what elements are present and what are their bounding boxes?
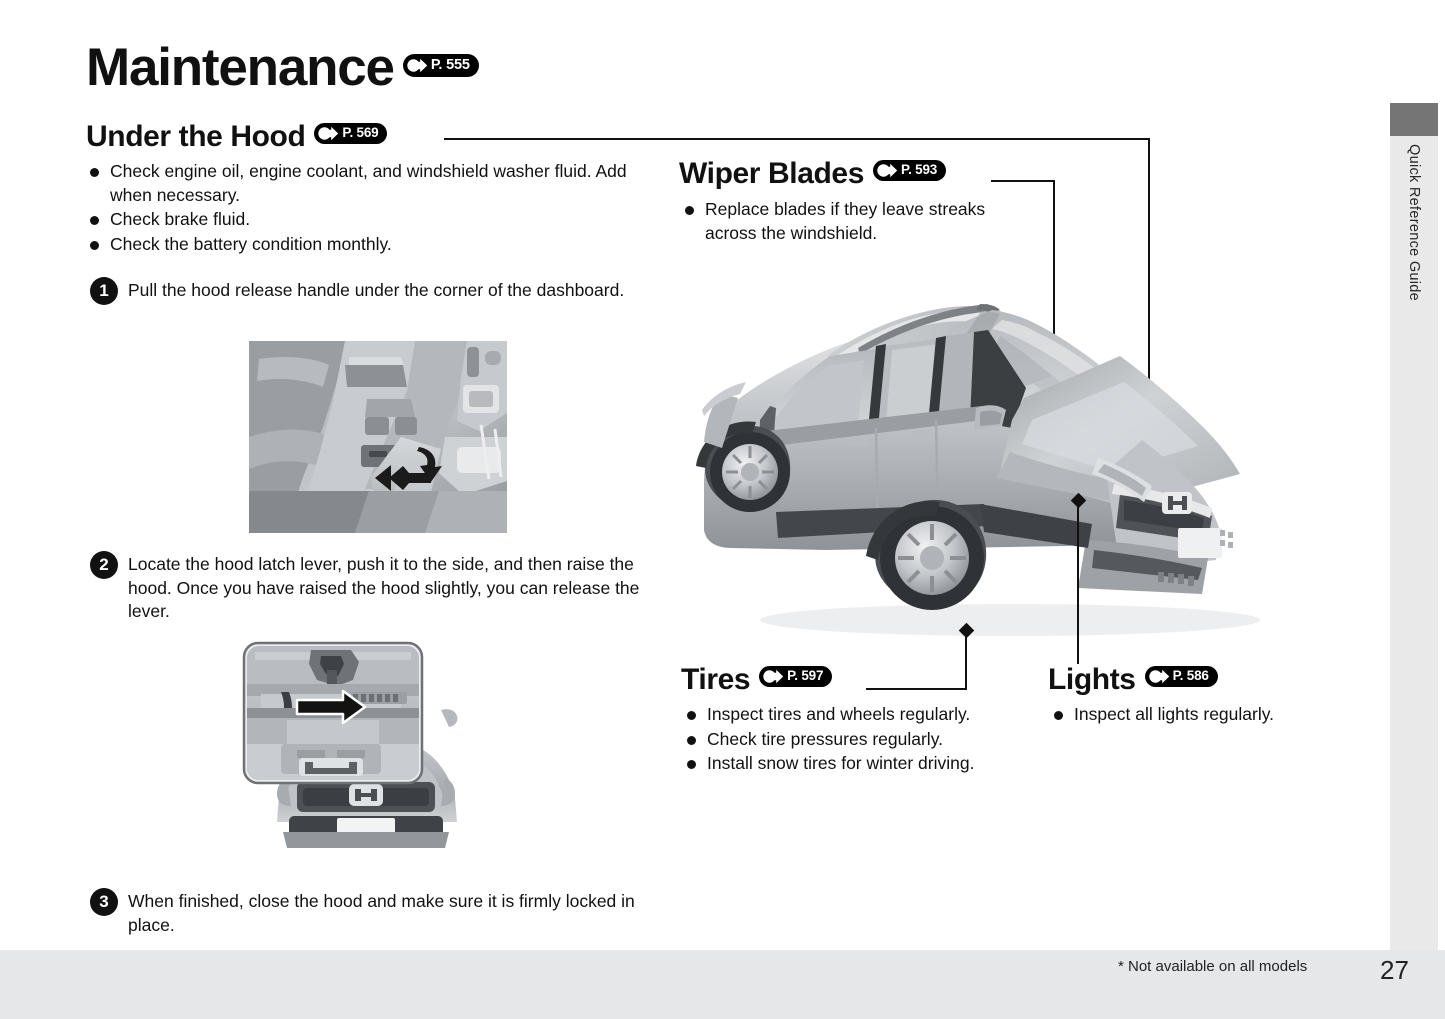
step-text: Locate the hood latch lever, push it to … xyxy=(128,551,680,624)
page-ref-badge-tires[interactable]: P. 597 xyxy=(759,666,832,687)
step-number: 1 xyxy=(90,277,118,305)
page-ref-text: P. 569 xyxy=(342,126,378,140)
step-text: Pull the hood release handle under the c… xyxy=(128,277,624,303)
under-the-hood-bullets: Check engine oil, engine coolant, and wi… xyxy=(88,160,648,257)
arrow-icon xyxy=(763,669,785,684)
side-tab-marker xyxy=(1390,103,1438,136)
bullet-item: Check brake fluid. xyxy=(88,208,648,232)
tires-title: Tires xyxy=(681,663,750,696)
bullet-item: Replace blades if they leave streaks acr… xyxy=(683,198,1033,245)
section-heading-lights: LightsP. 586 xyxy=(1048,665,1218,695)
page-ref-text: P. 597 xyxy=(787,669,823,683)
leader-line-tires-horizontal xyxy=(866,688,967,690)
bullet-item: Check the battery condition monthly. xyxy=(88,233,648,257)
page-ref-badge-lights[interactable]: P. 586 xyxy=(1145,666,1218,687)
figure-vehicle xyxy=(680,250,1300,660)
page-ref-text: P. 586 xyxy=(1173,669,1209,683)
wiper-blades-title: Wiper Blades xyxy=(679,157,864,190)
page-title: MaintenanceP. 555 xyxy=(86,41,479,94)
step-2: 2 Locate the hood latch lever, push it t… xyxy=(90,551,680,624)
page-ref-badge-wiper-blades[interactable]: P. 593 xyxy=(873,160,946,181)
bullet-item: Check tire pressures regularly. xyxy=(685,728,1015,752)
side-tab-label: Quick Reference Guide xyxy=(1406,140,1422,301)
step-text: When finished, close the hood and make s… xyxy=(128,888,650,937)
leader-line-wiper-horizontal xyxy=(991,180,1055,182)
page-ref-text: P. 555 xyxy=(431,58,470,73)
step-3: 3 When finished, close the hood and make… xyxy=(90,888,650,937)
arrow-icon xyxy=(407,58,429,73)
step-number: 3 xyxy=(90,888,118,916)
section-heading-under-the-hood: Under the HoodP. 569 xyxy=(86,122,387,152)
arrow-icon xyxy=(877,163,899,178)
page-ref-badge-under-the-hood[interactable]: P. 569 xyxy=(314,123,387,144)
arrow-icon xyxy=(1149,669,1171,684)
figure-hood-latch xyxy=(241,636,491,876)
under-the-hood-title: Under the Hood xyxy=(86,120,305,153)
leader-line-hood-horizontal xyxy=(444,138,1150,140)
bullet-item: Check engine oil, engine coolant, and wi… xyxy=(88,160,648,207)
page-ref-badge-maintenance[interactable]: P. 555 xyxy=(403,54,479,77)
manual-page: Quick Reference Guide MaintenanceP. 555 … xyxy=(0,0,1445,1019)
footer-note: * Not available on all models xyxy=(1118,958,1307,975)
step-1: 1 Pull the hood release handle under the… xyxy=(90,277,650,305)
page-number: 27 xyxy=(1380,955,1409,986)
wiper-blades-bullets: Replace blades if they leave streaks acr… xyxy=(683,198,1033,246)
bullet-item: Inspect tires and wheels regularly. xyxy=(685,703,1015,727)
step-number: 2 xyxy=(90,551,118,579)
section-heading-wiper-blades: Wiper BladesP. 593 xyxy=(679,159,946,189)
arrow-icon xyxy=(318,126,340,141)
tires-bullets: Inspect tires and wheels regularly. Chec… xyxy=(685,703,1015,777)
page-title-text: Maintenance xyxy=(86,38,394,97)
leader-line-tires-vertical xyxy=(965,632,967,690)
lights-title: Lights xyxy=(1048,663,1136,696)
bullet-item: Install snow tires for winter driving. xyxy=(685,752,1015,776)
section-heading-tires: TiresP. 597 xyxy=(681,665,832,695)
figure-hood-release xyxy=(249,341,507,533)
side-tab-label-wrap: Quick Reference Guide xyxy=(1390,140,1438,470)
leader-line-lights-vertical xyxy=(1077,502,1079,664)
bullet-item: Inspect all lights regularly. xyxy=(1052,703,1352,727)
lights-bullets: Inspect all lights regularly. xyxy=(1052,703,1352,728)
page-ref-text: P. 593 xyxy=(901,163,937,177)
